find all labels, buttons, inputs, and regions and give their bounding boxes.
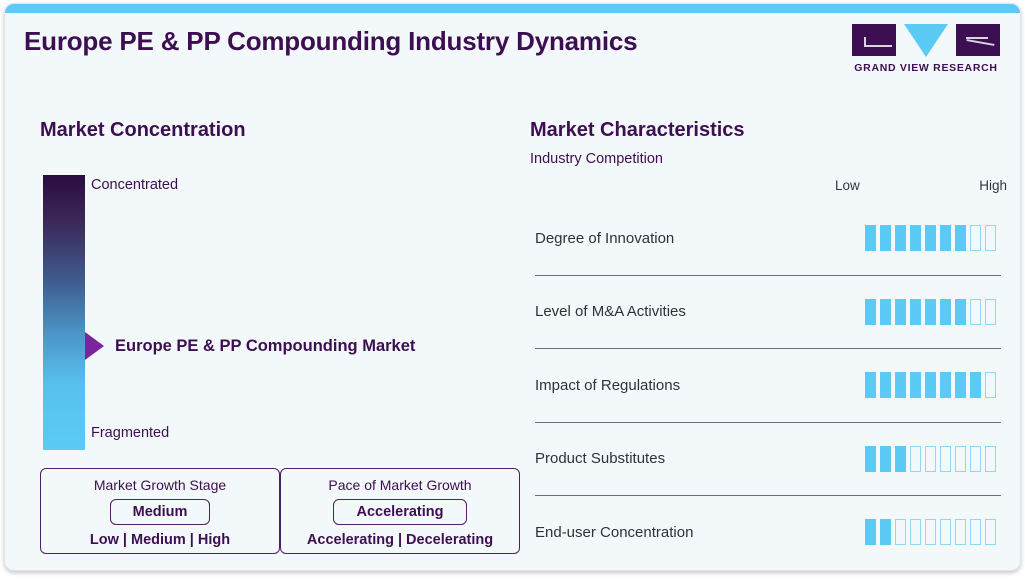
rating-segment-empty — [970, 299, 981, 325]
rating-bar-group — [865, 519, 1001, 545]
concentration-bottom-label: Fragmented — [91, 425, 169, 441]
rating-segment-filled — [895, 446, 906, 472]
rating-segment-filled — [925, 299, 936, 325]
rating-segment-empty — [985, 519, 996, 545]
market-concentration-title: Market Concentration — [40, 119, 246, 142]
rating-segment-empty — [925, 446, 936, 472]
rating-segment-filled — [880, 225, 891, 251]
growth-stage-scale: Low | Medium | High — [41, 532, 279, 548]
rating-segment-filled — [880, 372, 891, 398]
rating-segment-empty — [940, 446, 951, 472]
rating-segment-filled — [865, 299, 876, 325]
market-growth-stage-box: Market Growth Stage Medium Low | Medium … — [40, 468, 280, 554]
rating-bar-group — [865, 446, 1001, 472]
characteristic-row: Product Substitutes — [535, 422, 1001, 496]
rating-segment-empty — [970, 446, 981, 472]
logo-wordmark: GRAND VIEW RESEARCH — [852, 62, 1000, 74]
characteristic-row: Level of M&A Activities — [535, 275, 1001, 349]
market-characteristics-subtitle: Industry Competition — [530, 151, 663, 167]
rating-segment-filled — [865, 225, 876, 251]
rating-segment-filled — [925, 225, 936, 251]
rating-segment-empty — [985, 225, 996, 251]
market-characteristics-title: Market Characteristics — [530, 119, 745, 142]
growth-pace-value: Accelerating — [333, 499, 466, 525]
marker-arrow-icon — [85, 332, 104, 360]
concentration-gradient-bar — [43, 175, 85, 450]
characteristic-row: Degree of Innovation — [535, 202, 1001, 275]
rating-segment-empty — [985, 299, 996, 325]
page-title: Europe PE & PP Compounding Industry Dyna… — [24, 26, 637, 57]
rating-segment-filled — [895, 372, 906, 398]
grand-view-research-logo: GRAND VIEW RESEARCH — [852, 24, 1000, 80]
growth-pace-heading: Pace of Market Growth — [281, 477, 519, 493]
rating-segment-empty — [955, 519, 966, 545]
rating-segment-filled — [895, 225, 906, 251]
rating-bar-group — [865, 372, 1001, 398]
rating-segment-filled — [865, 519, 876, 545]
market-position-label: Europe PE & PP Compounding Market — [115, 337, 415, 356]
rating-segment-filled — [925, 372, 936, 398]
rating-segment-filled — [955, 299, 966, 325]
characteristics-list: Degree of InnovationLevel of M&A Activit… — [535, 202, 1001, 569]
rating-segment-filled — [880, 446, 891, 472]
growth-stage-value: Medium — [110, 499, 211, 525]
logo-r-icon — [956, 24, 1000, 56]
rating-segment-filled — [865, 372, 876, 398]
rating-segment-filled — [940, 372, 951, 398]
rating-segment-empty — [940, 519, 951, 545]
characteristic-label: End-user Concentration — [535, 524, 693, 541]
rating-segment-filled — [955, 225, 966, 251]
rating-segment-filled — [895, 299, 906, 325]
characteristic-row: End-user Concentration — [535, 495, 1001, 569]
infographic-card: Europe PE & PP Compounding Industry Dyna… — [4, 3, 1021, 571]
market-concentration-panel: Market Concentration Concentrated Fragme… — [5, 85, 515, 571]
characteristic-label: Level of M&A Activities — [535, 303, 686, 320]
rating-segment-filled — [955, 372, 966, 398]
growth-stage-heading: Market Growth Stage — [41, 477, 279, 493]
rating-segment-empty — [925, 519, 936, 545]
header: Europe PE & PP Compounding Industry Dyna… — [5, 13, 1020, 85]
rating-segment-filled — [910, 372, 921, 398]
logo-v-triangle-icon — [904, 24, 948, 57]
market-characteristics-panel: Market Characteristics Industry Competit… — [515, 85, 1021, 571]
rating-segment-filled — [910, 299, 921, 325]
scale-high-label: High — [979, 178, 1007, 193]
rating-segment-empty — [955, 446, 966, 472]
rating-bar-group — [865, 225, 1001, 251]
growth-pace-scale: Accelerating | Decelerating — [281, 532, 519, 548]
rating-segment-filled — [910, 225, 921, 251]
top-accent-bar — [5, 4, 1020, 13]
characteristic-row: Impact of Regulations — [535, 348, 1001, 422]
rating-segment-filled — [940, 225, 951, 251]
rating-segment-empty — [985, 446, 996, 472]
characteristic-label: Impact of Regulations — [535, 377, 680, 394]
rating-segment-empty — [970, 519, 981, 545]
rating-bar-group — [865, 299, 1001, 325]
rating-segment-filled — [940, 299, 951, 325]
logo-g-icon — [852, 24, 896, 56]
concentration-top-label: Concentrated — [91, 177, 178, 193]
rating-segment-filled — [970, 372, 981, 398]
rating-segment-empty — [985, 372, 996, 398]
rating-segment-filled — [865, 446, 876, 472]
characteristic-label: Product Substitutes — [535, 450, 665, 467]
pace-of-market-growth-box: Pace of Market Growth Accelerating Accel… — [280, 468, 520, 554]
characteristic-label: Degree of Innovation — [535, 230, 674, 247]
rating-segment-empty — [895, 519, 906, 545]
scale-header: Low High — [835, 178, 1007, 193]
rating-segment-filled — [880, 519, 891, 545]
logo-marks — [852, 24, 1000, 60]
rating-segment-empty — [910, 519, 921, 545]
rating-segment-filled — [880, 299, 891, 325]
rating-segment-empty — [970, 225, 981, 251]
rating-segment-empty — [910, 446, 921, 472]
scale-low-label: Low — [835, 178, 860, 193]
